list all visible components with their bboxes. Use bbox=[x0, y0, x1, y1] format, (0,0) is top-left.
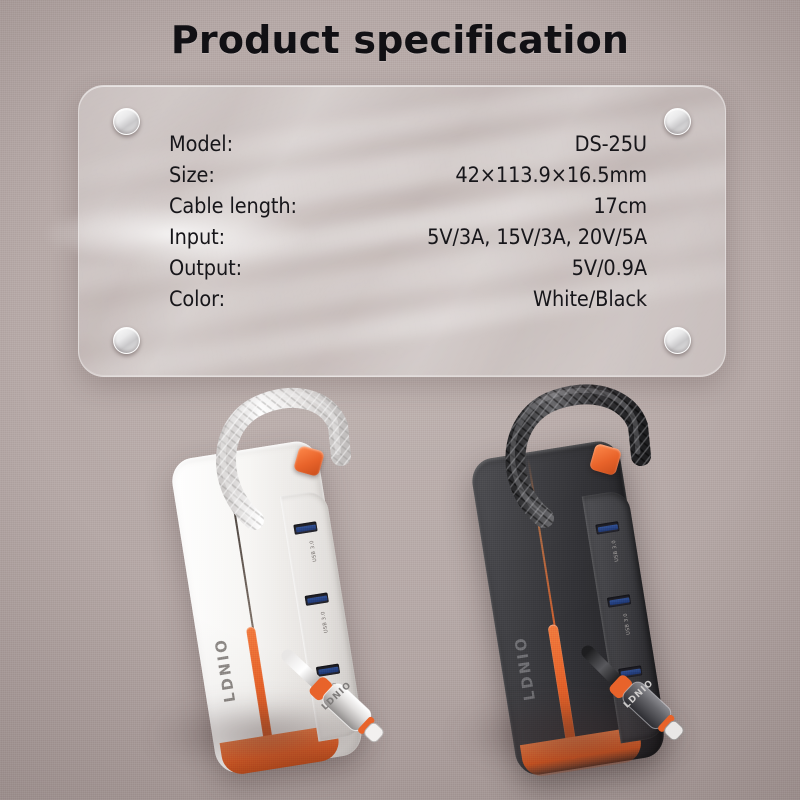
spec-value: 42×113.9×16.5mm bbox=[455, 163, 647, 188]
spec-row-cable-length: Cable length: 17cm bbox=[169, 194, 647, 225]
black-hub-brand: LDNIO bbox=[511, 635, 539, 702]
spec-value: 5V/3A, 15V/3A, 20V/5A bbox=[427, 225, 647, 250]
screw-top-left bbox=[113, 108, 140, 135]
spec-value: 17cm bbox=[593, 194, 647, 219]
spec-row-input: Input: 5V/3A, 15V/3A, 20V/5A bbox=[169, 225, 647, 256]
spec-row-color: Color: White/Black bbox=[169, 287, 647, 318]
spec-label: Input: bbox=[169, 225, 225, 250]
spec-value: White/Black bbox=[533, 287, 647, 312]
spec-row-size: Size: 42×113.9×16.5mm bbox=[169, 163, 647, 194]
spec-label: Size: bbox=[169, 163, 215, 188]
spec-row-model: Model: DS-25U bbox=[169, 132, 647, 163]
screw-bottom-right bbox=[664, 327, 691, 354]
spec-row-output: Output: 5V/0.9A bbox=[169, 256, 647, 287]
white-hub-brand: LDNIO bbox=[211, 636, 239, 703]
screw-top-right bbox=[664, 108, 691, 135]
spec-value: 5V/0.9A bbox=[572, 256, 647, 281]
spec-label: Output: bbox=[169, 256, 242, 281]
spec-list: Model: DS-25U Size: 42×113.9×16.5mm Cabl… bbox=[169, 132, 647, 318]
spec-label: Model: bbox=[169, 132, 233, 157]
spec-glass-panel: Model: DS-25U Size: 42×113.9×16.5mm Cabl… bbox=[78, 85, 726, 377]
page-title: Product specification bbox=[0, 18, 800, 62]
white-hub-usbc-plug: LDNIO bbox=[288, 648, 398, 748]
spec-label: Cable length: bbox=[169, 194, 297, 219]
screw-bottom-left bbox=[113, 327, 140, 354]
black-hub-usbc-plug: LDNIO bbox=[588, 646, 703, 746]
spec-value: DS-25U bbox=[575, 132, 647, 157]
black-hub-cable bbox=[502, 390, 672, 520]
product-spec-page: Product specification Model: DS-25U Size… bbox=[0, 0, 800, 800]
spec-label: Color: bbox=[169, 287, 225, 312]
white-hub-cable bbox=[210, 392, 370, 522]
